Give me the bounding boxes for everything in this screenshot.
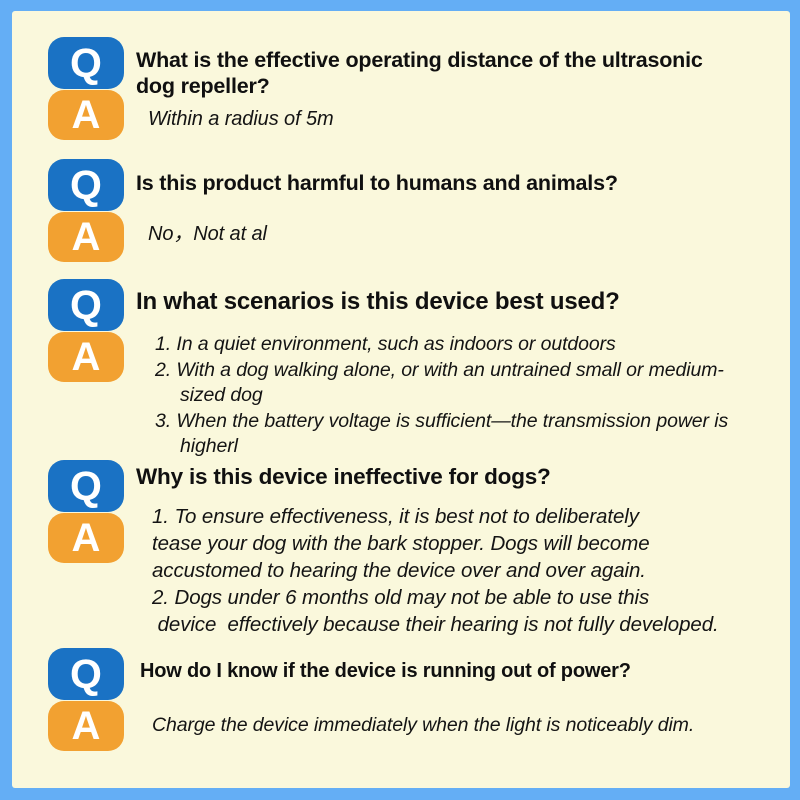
answer-list-item: 1. In a quiet environment, such as indoo… [155, 332, 735, 358]
faq-answer: 1. In a quiet environment, such as indoo… [155, 332, 735, 460]
qa-badge-group: Q A [48, 460, 124, 563]
faq-question: How do I know if the device is running o… [140, 659, 750, 684]
faq-question: What is the effective operating distance… [136, 47, 746, 99]
faq-answer: Within a radius of 5m [148, 106, 748, 132]
faq-answer: No，Not at al [148, 221, 748, 247]
faq-card: Q A What is the effective operating dist… [0, 0, 800, 800]
faq-question: Is this product harmful to humans and an… [136, 170, 746, 196]
answer-line: 1. To ensure effectiveness, it is best n… [152, 503, 790, 530]
question-badge-icon: Q [48, 37, 124, 89]
answer-badge-icon: A [48, 90, 124, 140]
answer-line: tease your dog with the bark stopper. Do… [152, 530, 790, 557]
faq-answer: Charge the device immediately when the l… [152, 713, 772, 738]
answer-badge-icon: A [48, 212, 124, 262]
answer-line: No，Not at al [148, 221, 748, 247]
faq-answer: 1. To ensure effectiveness, it is best n… [152, 503, 790, 638]
qa-badge-group: Q A [48, 37, 124, 140]
answer-list-item: 2. With a dog walking alone, or with an … [155, 358, 735, 409]
answer-line: device effectively because their hearing… [152, 611, 790, 638]
answer-badge-icon: A [48, 701, 124, 751]
qa-badge-group: Q A [48, 279, 124, 382]
faq-question: In what scenarios is this device best us… [136, 288, 746, 316]
answer-line: Within a radius of 5m [148, 106, 748, 132]
answer-badge-icon: A [48, 513, 124, 563]
faq-question: Why is this device ineffective for dogs? [136, 463, 746, 490]
question-badge-icon: Q [48, 648, 124, 700]
qa-badge-group: Q A [48, 648, 124, 751]
qa-badge-group: Q A [48, 159, 124, 262]
answer-line: 2. Dogs under 6 months old may not be ab… [152, 584, 790, 611]
question-badge-icon: Q [48, 159, 124, 211]
question-badge-icon: Q [48, 460, 124, 512]
answer-line: Charge the device immediately when the l… [152, 713, 772, 738]
answer-list-item: 3. When the battery voltage is sufficien… [155, 409, 735, 460]
question-badge-icon: Q [48, 279, 124, 331]
answer-badge-icon: A [48, 332, 124, 382]
answer-line: accustomed to hearing the device over an… [152, 557, 790, 584]
faq-panel: Q A What is the effective operating dist… [12, 11, 790, 788]
